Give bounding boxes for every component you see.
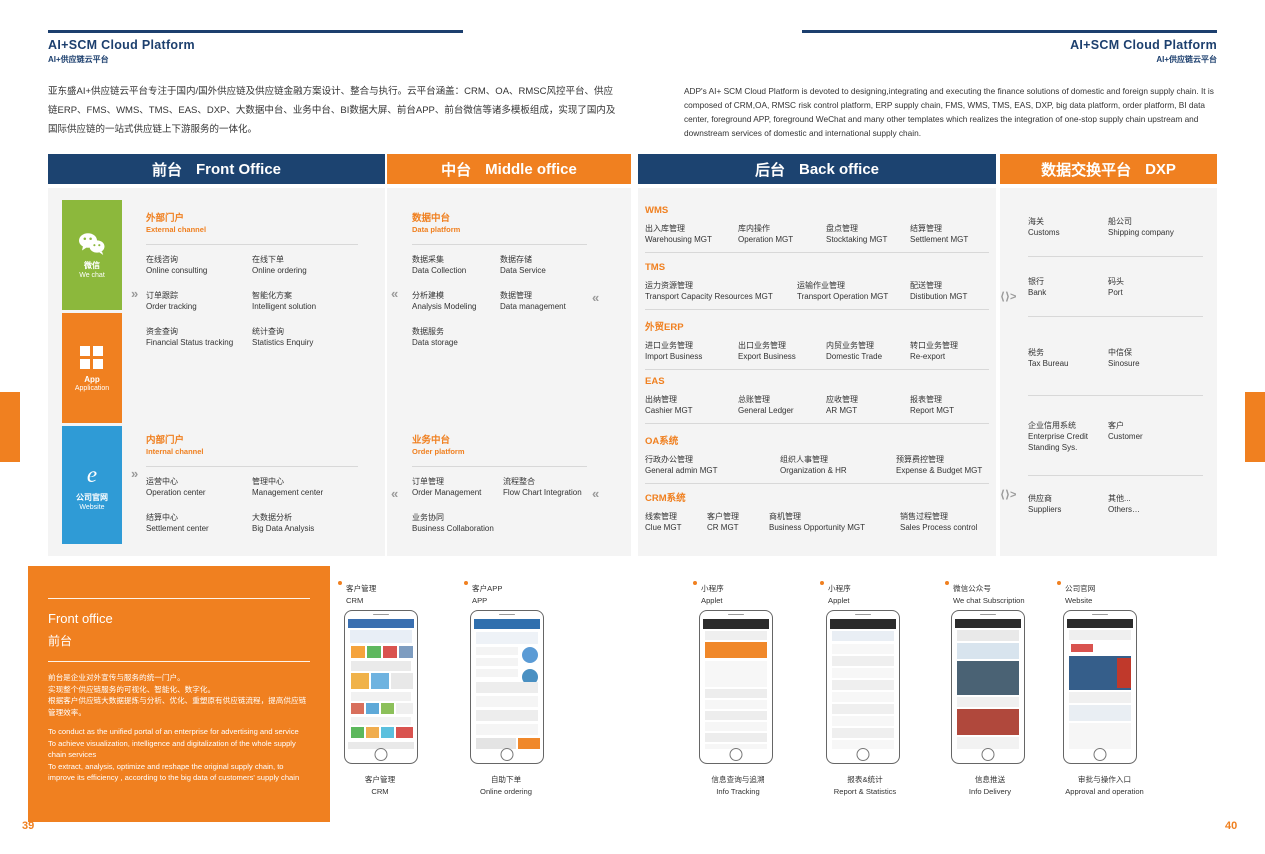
- tile-app-cn: App: [84, 375, 100, 384]
- chevron-right-front-upper-icon: »: [131, 286, 138, 301]
- front-office-external-row-2: 订单跟踪 Order tracking 智能化方案 Intelligent so…: [146, 290, 370, 312]
- list-item[interactable]: 报表管理 Report MGT: [910, 394, 989, 416]
- list-item[interactable]: 订单跟踪 Order tracking: [146, 290, 252, 312]
- list-item[interactable]: 结算管理 Settlement MGT: [910, 223, 989, 245]
- phone-showcase-website: 公司官网 Website 审批与操作入口 Approval and operat…: [1057, 578, 1187, 796]
- list-item[interactable]: 数据存储 Data Service: [500, 254, 588, 276]
- list-item[interactable]: 企业信用系统 Enterprise Credit Standing Sys.: [1028, 420, 1108, 453]
- back-office-group-wms-title: WMS: [645, 205, 989, 216]
- middle-office-group-order-title: 业务中台 Order platform: [412, 432, 612, 456]
- back-office-group-oa: OA系统 行政办公管理 General admin MGT 组织人事管理 Org…: [645, 433, 989, 484]
- list-item[interactable]: 进口业务管理 Import Business: [645, 340, 738, 362]
- phone-app-screen[interactable]: [474, 619, 540, 749]
- phone-showcase-applet-report: 小程序 Applet 报表&统计 Report & Statistics: [820, 578, 930, 796]
- phone-device-wechat[interactable]: [951, 610, 1025, 764]
- banner-middle-office: 中台 Middle office: [387, 154, 631, 184]
- list-item[interactable]: 库内操作 Operation MGT: [738, 223, 826, 245]
- phone-speaker-icon: [700, 611, 772, 618]
- back-office-group-erp-title: 外贸ERP: [645, 319, 989, 333]
- intro-text-en: ADP's AI+ SCM Cloud Platform is devoted …: [684, 84, 1217, 140]
- front-office-internal-row-2: 结算中心 Settlement center 大数据分析 Big Data An…: [146, 512, 370, 534]
- list-item[interactable]: 线索管理 Clue MGT: [645, 511, 707, 533]
- phone-home-button[interactable]: [375, 748, 388, 761]
- phone-device-applet-report[interactable]: [826, 610, 900, 764]
- phone-device-crm[interactable]: [344, 610, 418, 764]
- header-left-title: AI+SCM Cloud Platform: [48, 38, 463, 52]
- chevron-right-front-lower-icon: »: [131, 466, 138, 481]
- oa-row: 行政办公管理 General admin MGT 组织人事管理 Organiza…: [645, 454, 989, 476]
- list-item[interactable]: 中信保 Sinosure: [1108, 347, 1208, 369]
- phone-showcase-wechat: 微信公众号 We chat Subscription 信息推送 Info Del…: [945, 578, 1065, 796]
- middle-data-row-3: 数据服务 Data storage: [412, 326, 592, 348]
- dxp-row-customs: 海关 Customs 船公司 Shipping company: [1028, 216, 1208, 257]
- back-office-group-erp: 外贸ERP 进口业务管理 Import Business 出口业务管理 Expo…: [645, 319, 989, 370]
- summary-text-en: To conduct as the unified portal of an e…: [48, 726, 310, 784]
- phone-speaker-icon: [952, 611, 1024, 618]
- dxp-row-tax: 税务 Tax Bureau 中信保 Sinosure: [1028, 347, 1208, 396]
- list-item[interactable]: 商机管理 Business Opportunity MGT: [769, 511, 900, 533]
- list-item[interactable]: 出纳管理 Cashier MGT: [645, 394, 738, 416]
- list-item[interactable]: 资金查询 Financial Status tracking: [146, 326, 252, 348]
- phone-applet2-caption-top: 小程序 Applet: [820, 578, 930, 605]
- list-item[interactable]: 流程整合 Flow Chart Integration: [503, 476, 603, 498]
- phone-app-caption-top: 客户APP APP: [464, 578, 574, 605]
- phone-applet1-caption-bottom: 信息查询与追溯 Info Tracking: [693, 769, 783, 796]
- phone-applet1-screen[interactable]: [703, 619, 769, 749]
- middle-data-row-1: 数据采集 Data Collection 数据存储 Data Service: [412, 254, 592, 276]
- divider: [1028, 316, 1203, 317]
- list-item[interactable]: 应收管理 AR MGT: [826, 394, 910, 416]
- tile-website-cn: 公司官网: [76, 492, 108, 503]
- phone-speaker-icon: [471, 611, 543, 618]
- dxp-row: 银行 Bank 码头 Port: [1028, 276, 1208, 298]
- bullet-dot-icon: [1057, 581, 1061, 585]
- divider: [146, 244, 358, 245]
- list-item[interactable]: 运输作业管理 Transport Operation MGT: [797, 280, 910, 302]
- header-right: AI+SCM Cloud Platform AI+供应链云平台: [802, 30, 1217, 65]
- list-item[interactable]: 码头 Port: [1108, 276, 1208, 298]
- divider: [1028, 475, 1203, 476]
- dxp-exchange-upper-icon: ⟨⟩>: [1000, 290, 1016, 303]
- list-item[interactable]: 数据采集 Data Collection: [412, 254, 500, 276]
- tile-wechat-cn: 微信: [84, 260, 100, 271]
- front-office-group-external: 外部门户 External channel 在线咨询 Online consul…: [146, 210, 370, 348]
- front-office-internal-row-1: 运营中心 Operation center 管理中心 Management ce…: [146, 476, 370, 498]
- phone-wechat-caption-top: 微信公众号 We chat Subscription: [945, 578, 1065, 605]
- phone-crm-caption-top: 客户管理 CRM: [338, 578, 438, 605]
- summary-rule-bottom: [48, 661, 310, 662]
- phone-home-button[interactable]: [982, 748, 995, 761]
- phone-speaker-icon: [345, 611, 417, 618]
- dxp-row: 税务 Tax Bureau 中信保 Sinosure: [1028, 347, 1208, 369]
- list-item[interactable]: 结算中心 Settlement center: [146, 512, 252, 534]
- banner-dxp: 数据交换平台 DXP: [1000, 154, 1217, 184]
- divider: [146, 466, 358, 467]
- phone-home-button[interactable]: [501, 748, 514, 761]
- phone-device-applet-tracking[interactable]: [699, 610, 773, 764]
- phone-wechat-screen[interactable]: [955, 619, 1021, 749]
- front-office-tile-app[interactable]: App Application: [62, 313, 122, 423]
- dxp-row-suppliers: 供应商 Suppliers 其他... Others…: [1028, 493, 1208, 515]
- chevron-left-middle-right-upper-icon: «: [592, 290, 599, 305]
- banner-dxp-cn: 数据交换平台: [1041, 159, 1131, 180]
- list-item[interactable]: 统计查询 Statistics Enquiry: [252, 326, 358, 348]
- svg-text:e: e: [87, 462, 97, 487]
- header-right-rule: [802, 30, 1217, 33]
- summary-rule-top: [48, 598, 310, 599]
- dxp-exchange-lower-icon: ⟨⟩>: [1000, 488, 1016, 501]
- list-item[interactable]: 数据管理 Data management: [500, 290, 588, 312]
- wms-row: 出入库管理 Warehousing MGT 库内操作 Operation MGT…: [645, 223, 989, 245]
- list-item[interactable]: 分析建模 Analysis Modeling: [412, 290, 500, 312]
- list-item[interactable]: 数据服务 Data storage: [412, 326, 500, 348]
- back-office-group-eas: EAS 出纳管理 Cashier MGT 总账管理 General Ledger…: [645, 376, 989, 424]
- banner-front-office: 前台 Front Office: [48, 154, 385, 184]
- internet-explorer-icon: e: [78, 460, 106, 488]
- divider: [1028, 256, 1203, 257]
- divider: [412, 466, 587, 467]
- dxp-row: 企业信用系统 Enterprise Credit Standing Sys. 客…: [1028, 420, 1208, 453]
- phone-home-button[interactable]: [1094, 748, 1107, 761]
- intro-text-cn: 亚东盛AI+供应链云平台专注于国内/国外供应链及供应链金融方案设计、整合与执行。…: [48, 82, 618, 139]
- page-number-right: 40: [1225, 820, 1237, 832]
- front-office-group-external-title: 外部门户 External channel: [146, 210, 370, 234]
- list-item[interactable]: 客户 Customer: [1108, 420, 1208, 453]
- list-item[interactable]: 运力资源管理 Transport Capacity Resources MGT: [645, 280, 797, 302]
- crm-row: 线索管理 Clue MGT 客户管理 CR MGT 商机管理 Business …: [645, 511, 989, 533]
- left-orange-accent-bar: [0, 392, 20, 462]
- back-office-group-oa-title: OA系统: [645, 433, 989, 447]
- divider: [645, 309, 989, 310]
- phone-speaker-icon: [1064, 611, 1136, 618]
- front-office-group-internal: 内部门户 Internal channel 运营中心 Operation cen…: [146, 432, 370, 534]
- list-item[interactable]: 税务 Tax Bureau: [1028, 347, 1108, 369]
- tile-website-en: Website: [79, 504, 104, 511]
- list-item[interactable]: 出入库管理 Warehousing MGT: [645, 223, 738, 245]
- phone-website-screen[interactable]: [1067, 619, 1133, 749]
- front-office-tile-website[interactable]: e 公司官网 Website: [62, 426, 122, 544]
- right-orange-accent-bar: [1245, 392, 1265, 462]
- dxp-row: 供应商 Suppliers 其他... Others…: [1028, 493, 1208, 515]
- list-item[interactable]: 海关 Customs: [1028, 216, 1108, 238]
- banner-back-office-en: Back office: [799, 161, 879, 178]
- list-item[interactable]: 总账管理 General Ledger: [738, 394, 826, 416]
- summary-heading-en: Front office: [48, 611, 310, 626]
- dxp-row-credit: 企业信用系统 Enterprise Credit Standing Sys. 客…: [1028, 420, 1208, 476]
- phone-website-caption-bottom: 审批与操作入口 Approval and operation: [1057, 769, 1152, 796]
- divider: [645, 483, 989, 484]
- tile-app-en: Application: [75, 385, 109, 392]
- app-grid-icon: [79, 345, 105, 371]
- phone-applet1-caption-top: 小程序 Applet: [693, 578, 803, 605]
- phone-home-button[interactable]: [857, 748, 870, 761]
- list-item[interactable]: 管理中心 Management center: [252, 476, 358, 498]
- list-item[interactable]: 智能化方案 Intelligent solution: [252, 290, 358, 312]
- list-item[interactable]: 转口业务管理 Re-export: [910, 340, 989, 362]
- phone-app-caption-bottom: 自助下单 Online ordering: [470, 769, 542, 796]
- front-office-summary-panel: Front office 前台 前台是企业对外宣传与服务的统一门户。 实现整个供…: [28, 566, 330, 822]
- front-office-group-internal-title: 内部门户 Internal channel: [146, 432, 370, 456]
- list-item[interactable]: 大数据分析 Big Data Analysis: [252, 512, 358, 534]
- phone-website-caption-top: 公司官网 Website: [1057, 578, 1187, 605]
- list-item[interactable]: 配送管理 Distibution MGT: [910, 280, 989, 302]
- header-left: AI+SCM Cloud Platform AI+供应链云平台: [48, 30, 463, 65]
- wechat-icon: [78, 232, 106, 256]
- header-left-rule: [48, 30, 463, 33]
- middle-office-group-order: 业务中台 Order platform 订单管理 Order Managemen…: [412, 432, 612, 534]
- eas-row: 出纳管理 Cashier MGT 总账管理 General Ledger 应收管…: [645, 394, 989, 416]
- front-office-tile-wechat[interactable]: 微信 We chat: [62, 200, 122, 310]
- middle-order-row-1: 订单管理 Order Management 流程整合 Flow Chart In…: [412, 476, 612, 498]
- divider: [412, 244, 587, 245]
- middle-order-row-2: 业务协同 Business Collaboration: [412, 512, 612, 534]
- header-right-subtitle: AI+供应链云平台: [802, 54, 1217, 65]
- list-item[interactable]: 客户管理 CR MGT: [707, 511, 769, 533]
- list-item[interactable]: 预算费控管理 Expense & Budget MGT: [896, 454, 989, 476]
- back-office-group-tms-title: TMS: [645, 262, 989, 273]
- front-office-external-row-1: 在线咨询 Online consulting 在线下单 Online order…: [146, 254, 370, 276]
- list-item[interactable]: 供应商 Suppliers: [1028, 493, 1108, 515]
- list-item[interactable]: 在线下单 Online ordering: [252, 254, 358, 276]
- phone-speaker-icon: [827, 611, 899, 618]
- back-office-group-crm-title: CRM系统: [645, 490, 989, 504]
- back-office-group-tms: TMS 运力资源管理 Transport Capacity Resources …: [645, 262, 989, 310]
- phone-wechat-caption-bottom: 信息推送 Info Delivery: [945, 769, 1035, 796]
- phone-device-app[interactable]: [470, 610, 544, 764]
- tms-row: 运力资源管理 Transport Capacity Resources MGT …: [645, 280, 989, 302]
- header-right-title: AI+SCM Cloud Platform: [802, 38, 1217, 52]
- back-office-group-crm: CRM系统 线索管理 Clue MGT 客户管理 CR MGT 商机管理 Bus…: [645, 490, 989, 533]
- list-item[interactable]: 销售过程管理 Sales Process control: [900, 511, 989, 533]
- list-item[interactable]: 船公司 Shipping company: [1108, 216, 1208, 238]
- banner-front-office-en: Front Office: [196, 161, 281, 178]
- middle-data-row-2: 分析建模 Analysis Modeling 数据管理 Data managem…: [412, 290, 592, 312]
- list-item[interactable]: 银行 Bank: [1028, 276, 1108, 298]
- banner-middle-office-cn: 中台: [441, 159, 471, 180]
- list-item[interactable]: 在线咨询 Online consulting: [146, 254, 252, 276]
- front-office-external-row-3: 资金查询 Financial Status tracking 统计查询 Stat…: [146, 326, 370, 348]
- middle-office-group-data: 数据中台 Data platform 数据采集 Data Collection …: [412, 210, 592, 348]
- dxp-row-bank: 银行 Bank 码头 Port: [1028, 276, 1208, 317]
- phone-crm-screen[interactable]: [348, 619, 414, 749]
- banner-front-office-cn: 前台: [152, 159, 182, 180]
- chevron-left-middle-lower-icon: «: [391, 486, 398, 501]
- page-number-left: 39: [22, 820, 34, 832]
- list-item[interactable]: 出口业务管理 Export Business: [738, 340, 826, 362]
- divider: [645, 252, 989, 253]
- banner-middle-office-en: Middle office: [485, 161, 577, 178]
- list-item[interactable]: 组织人事管理 Organization & HR: [780, 454, 896, 476]
- bullet-dot-icon: [464, 581, 468, 585]
- erp-row: 进口业务管理 Import Business 出口业务管理 Export Bus…: [645, 340, 989, 362]
- list-item[interactable]: 内贸业务管理 Domestic Trade: [826, 340, 910, 362]
- phone-applet2-screen[interactable]: [830, 619, 896, 749]
- phone-showcase-applet-tracking: 小程序 Applet 信息查询与追溯 Info Tracking: [693, 578, 803, 796]
- divider: [645, 423, 989, 424]
- chevron-left-middle-upper-icon: «: [391, 286, 398, 301]
- list-item[interactable]: 运营中心 Operation center: [146, 476, 252, 498]
- back-office-group-wms: WMS 出入库管理 Warehousing MGT 库内操作 Operation…: [645, 205, 989, 253]
- phone-device-website[interactable]: [1063, 610, 1137, 764]
- phone-showcase-app: 客户APP APP 自助下单 Online ordering: [464, 578, 574, 796]
- list-item[interactable]: 业务协同 Business Collaboration: [412, 512, 503, 534]
- summary-heading-cn: 前台: [48, 632, 310, 649]
- phone-showcase-crm: 客户管理 CRM: [338, 578, 438, 796]
- list-item[interactable]: 行政办公管理 General admin MGT: [645, 454, 780, 476]
- phone-crm-caption-bottom: 客户管理 CRM: [344, 769, 416, 796]
- divider: [1028, 395, 1203, 396]
- list-item[interactable]: 盘点管理 Stocktaking MGT: [826, 223, 910, 245]
- banner-dxp-en: DXP: [1145, 161, 1176, 178]
- banner-back-office: 后台 Back office: [638, 154, 996, 184]
- bullet-dot-icon: [945, 581, 949, 585]
- banner-back-office-cn: 后台: [755, 159, 785, 180]
- list-item[interactable]: 其他... Others…: [1108, 493, 1208, 515]
- middle-office-group-data-title: 数据中台 Data platform: [412, 210, 592, 234]
- back-office-group-eas-title: EAS: [645, 376, 989, 387]
- bullet-dot-icon: [338, 581, 342, 585]
- summary-text-cn: 前台是企业对外宣传与服务的统一门户。 实现整个供应链服务的可视化、智能化、数字化…: [48, 672, 310, 718]
- phone-applet2-caption-bottom: 报表&统计 Report & Statistics: [820, 769, 910, 796]
- bullet-dot-icon: [693, 581, 697, 585]
- tile-wechat-en: We chat: [79, 272, 105, 279]
- bullet-dot-icon: [820, 581, 824, 585]
- dxp-row: 海关 Customs 船公司 Shipping company: [1028, 216, 1208, 238]
- header-left-subtitle: AI+供应链云平台: [48, 54, 463, 65]
- divider: [645, 369, 989, 370]
- list-item[interactable]: 订单管理 Order Management: [412, 476, 503, 498]
- phone-home-button[interactable]: [730, 748, 743, 761]
